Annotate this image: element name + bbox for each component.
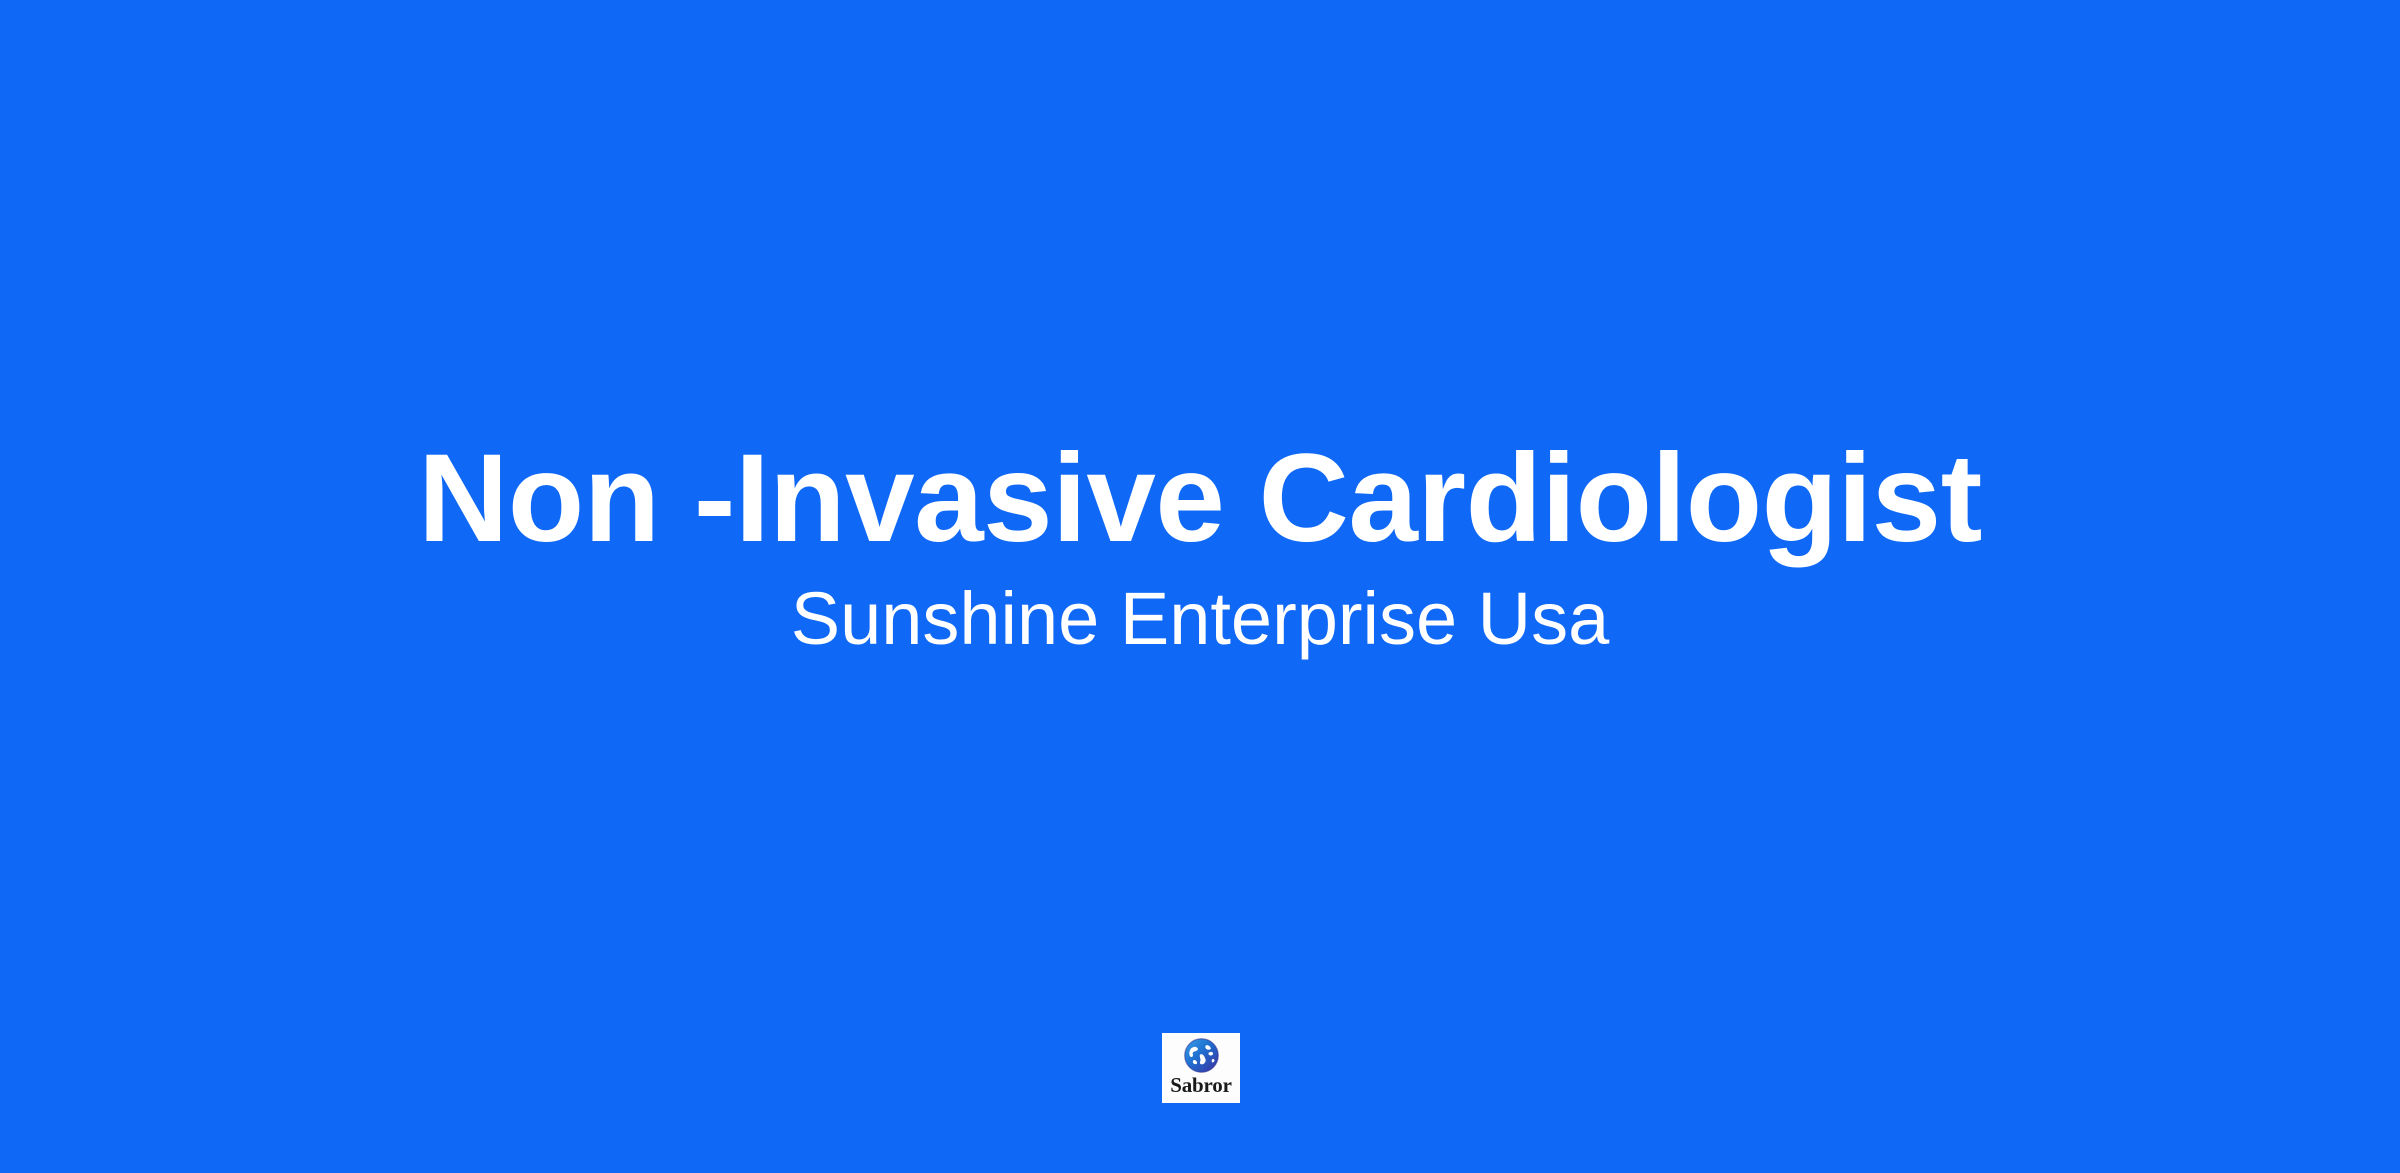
- company-name: Sunshine Enterprise Usa: [791, 575, 1610, 664]
- banner-hero: Non -Invasive Cardiologist Sunshine Ente…: [0, 0, 2400, 1030]
- globe-icon: [1183, 1037, 1220, 1074]
- job-posting-banner: Non -Invasive Cardiologist Sunshine Ente…: [0, 0, 2400, 1173]
- page-title: Non -Invasive Cardiologist: [418, 429, 1982, 569]
- logo-wordmark: Sabror: [1170, 1075, 1231, 1096]
- brand-logo: Sabror: [1162, 1033, 1240, 1103]
